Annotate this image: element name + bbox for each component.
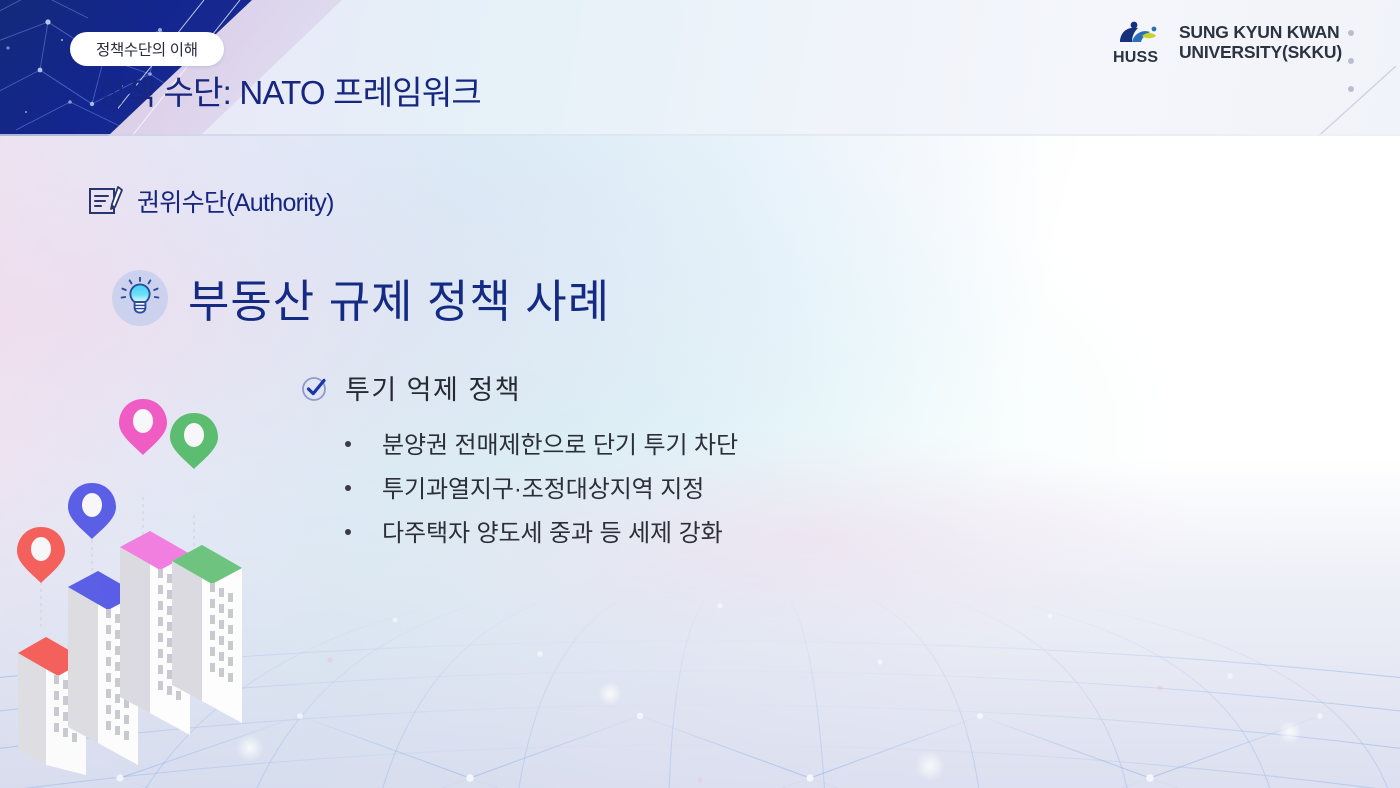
sub-heading: 권위수단(Authority) xyxy=(88,183,334,219)
header-dot xyxy=(1348,58,1354,64)
huss-emblem-icon: HUSS xyxy=(1112,20,1168,66)
list-item-label: 다주택자 양도세 중과 등 세제 강화 xyxy=(382,513,723,548)
slide-header: 정책수단의 이해 정책 수단: NATO 프레임워크 HUSS SUNG KYU… xyxy=(0,0,1400,136)
section-badge-label: 정책수단의 이해 xyxy=(96,38,198,60)
note-pencil-icon xyxy=(88,184,124,218)
huss-wordmark: HUSS xyxy=(1113,49,1158,67)
bullet-dot-icon xyxy=(345,441,351,447)
section-badge: 정책수단의 이해 xyxy=(70,32,224,66)
map-pin-blue xyxy=(68,483,116,539)
bullet-dot-icon xyxy=(345,485,351,491)
university-name-line2: UNIVERSITY(SKKU) xyxy=(1179,43,1342,63)
point-label: 투기 억제 정책 xyxy=(345,368,521,407)
list-item: 분양권 전매제한으로 단기 투기 차단 xyxy=(345,425,738,469)
lightbulb-icon xyxy=(120,277,160,319)
bullet-list: 분양권 전매제한으로 단기 투기 차단 투기과열지구·조정대상지역 지정 다주택… xyxy=(345,425,738,557)
university-wordmark: SUNG KYUN KWAN UNIVERSITY(SKKU) xyxy=(1179,23,1342,62)
sub-heading-label: 권위수단(Authority) xyxy=(137,183,334,219)
header-dot xyxy=(1348,86,1354,92)
bullet-dot-icon xyxy=(345,529,351,535)
skku-logo: HUSS SUNG KYUN KWAN UNIVERSITY(SKKU) xyxy=(1112,20,1342,66)
list-item-label: 분양권 전매제한으로 단기 투기 차단 xyxy=(382,425,738,460)
main-heading-label: 부동산 규제 정책 사례 xyxy=(188,265,610,330)
slide-root: 정책수단의 이해 정책 수단: NATO 프레임워크 HUSS SUNG KYU… xyxy=(0,0,1400,788)
lightbulb-badge xyxy=(112,270,168,326)
header-dot-decoration xyxy=(1348,30,1354,114)
header-slash-decoration xyxy=(1286,66,1400,136)
check-circle-icon xyxy=(300,373,330,403)
map-pin-pink xyxy=(119,399,167,455)
list-item-label: 투기과열지구·조정대상지역 지정 xyxy=(382,469,704,504)
list-item: 다주택자 양도세 중과 등 세제 강화 xyxy=(345,513,738,557)
map-pin-green xyxy=(170,413,218,469)
list-item: 투기과열지구·조정대상지역 지정 xyxy=(345,469,738,513)
header-divider xyxy=(0,134,1400,136)
university-name-line1: SUNG KYUN KWAN xyxy=(1179,23,1342,43)
isometric-buildings-illustration xyxy=(0,375,270,775)
page-title: 정책 수단: NATO 프레임워크 xyxy=(96,76,481,109)
header-dot xyxy=(1348,30,1354,36)
point-row: 투기 억제 정책 xyxy=(300,368,521,407)
map-pin-red xyxy=(17,527,65,583)
main-heading: 부동산 규제 정책 사례 xyxy=(112,265,610,330)
